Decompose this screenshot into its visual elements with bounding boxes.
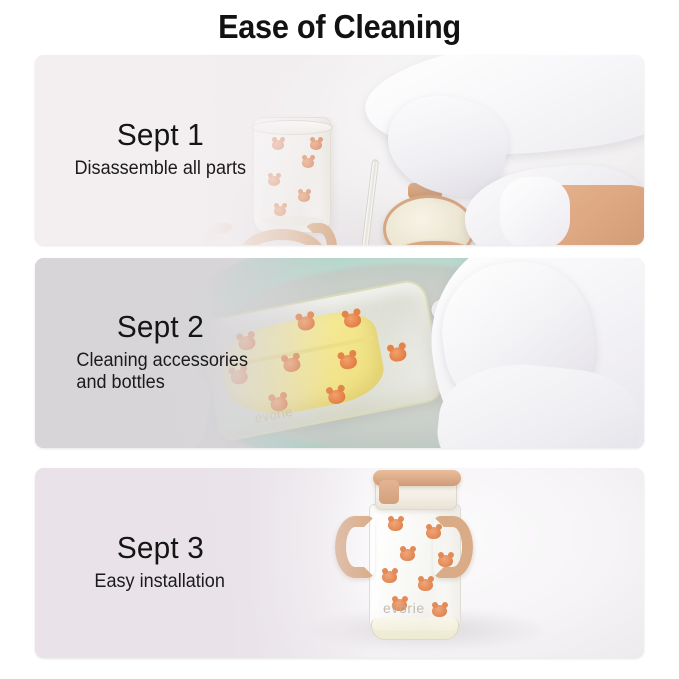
product-infographic: Ease of Cleaning — [0, 0, 679, 679]
bear-print-icon — [310, 140, 322, 150]
step-2-text-block: Sept 2 Cleaning accessories and bottles — [35, 258, 285, 448]
bear-print-icon — [388, 519, 403, 531]
step-panel-1: Sept 1 Disassemble all parts — [35, 55, 644, 245]
bear-print-icon — [432, 605, 447, 617]
p3-lid-latch — [379, 480, 399, 504]
p3-bottle-base — [371, 618, 459, 640]
p3-handle-left — [335, 516, 375, 578]
p1-glove-cuff — [500, 177, 570, 245]
bear-print-icon — [382, 571, 397, 583]
page-title: Ease of Cleaning — [24, 8, 655, 46]
step-3-text-block: Sept 3 Easy installation — [35, 468, 285, 658]
step-1-title: Sept 1 — [116, 118, 203, 153]
bear-print-icon — [302, 158, 314, 168]
bear-print-icon — [327, 388, 346, 405]
bear-print-icon — [388, 346, 407, 363]
step-panel-3: evorie Sept 3 Easy installation — [35, 468, 644, 658]
p1-hook-right — [303, 223, 337, 245]
bear-print-icon — [418, 579, 433, 591]
bear-print-icon — [298, 192, 310, 202]
p3-handle-right — [433, 516, 473, 578]
step-2-title: Sept 2 — [116, 310, 203, 345]
step-panel-2: evorie Sept 2 Cleaning accessories and b… — [35, 258, 644, 448]
p3-brand-label: evorie — [383, 600, 425, 616]
bear-print-icon — [400, 549, 415, 561]
step-3-description: Easy installation — [95, 571, 225, 593]
step-1-description: Disassemble all parts — [74, 158, 246, 180]
step-1-text-block: Sept 1 Disassemble all parts — [35, 55, 285, 245]
step-2-description: Cleaning accessories and bottles — [72, 350, 247, 394]
step-3-title: Sept 3 — [116, 531, 203, 566]
